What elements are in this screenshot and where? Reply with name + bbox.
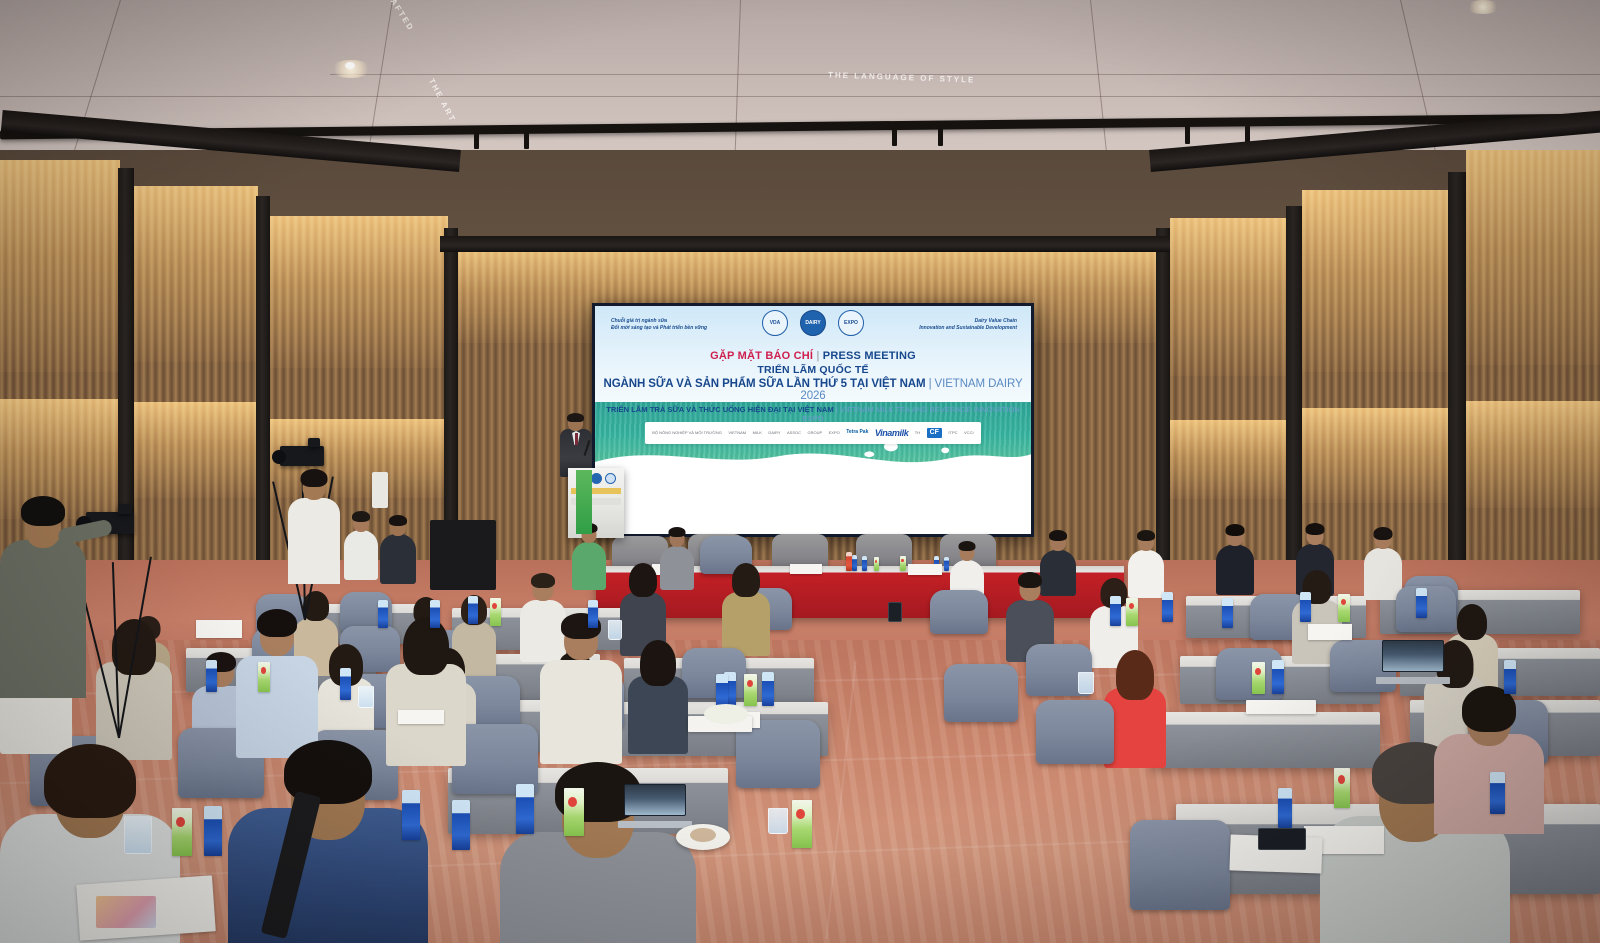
person-hair <box>732 563 760 597</box>
name-tent-card <box>398 710 444 724</box>
water-bottle <box>1278 788 1292 828</box>
track-spot-light <box>892 128 897 146</box>
water-bottle <box>762 672 774 706</box>
name-tent-card <box>196 620 242 638</box>
person-hair <box>640 640 676 686</box>
audience-chair <box>930 590 988 634</box>
person-hair <box>1457 604 1487 640</box>
name-tent-card <box>908 564 942 575</box>
drinking-glass <box>358 686 374 708</box>
main-title-vn: NGÀNH SỮA VÀ SẢN PHẨM SỮA LẦN THỨ 5 TẠI … <box>603 378 925 390</box>
person-hair <box>1018 572 1042 588</box>
milk-tea-expo-en: | VIETNAM MILK TEA AND BEVERAGE INNOVATI… <box>802 405 1019 423</box>
laptop-base <box>1376 677 1450 684</box>
sponsor-logo-bar: BỘ NÔNG NGHIỆP VÀ MÔI TRƯỜNG VIETNAM MIL… <box>645 422 981 444</box>
sponsor-logo-8: CF <box>927 428 942 438</box>
person-hair <box>44 744 136 818</box>
water-bottle <box>1222 598 1233 628</box>
product-bottle-red <box>846 552 852 571</box>
ceiling-text-language-of-style: THE LANGUAGE OF STYLE <box>828 70 976 84</box>
ceiling-text-art: THE ART <box>427 77 458 124</box>
milk-carton <box>258 662 270 692</box>
water-bottle <box>378 600 388 628</box>
person-hair <box>1137 530 1155 541</box>
tagline-right-line2: Innovation and Sustainable Development <box>919 325 1017 332</box>
milk-carton <box>1338 594 1350 622</box>
operator-body <box>0 540 86 698</box>
logo-vietnam-dairy-left-icon: VDA <box>762 310 788 336</box>
person-body <box>380 534 416 584</box>
wall-sign <box>372 472 388 508</box>
operator-hair <box>301 469 328 487</box>
person-body <box>628 676 688 754</box>
milk-carton <box>900 556 906 571</box>
audience-person <box>236 604 318 754</box>
person-hair <box>531 573 555 588</box>
screen-tagline-left: Chuỗi giá trị ngành sữa Đổi mới sáng tạo… <box>611 318 707 333</box>
person-body <box>1216 545 1254 595</box>
milk-carton <box>1252 662 1265 694</box>
logo-vietnam-dairy-center-icon: DAIRY <box>800 310 826 336</box>
person-hair <box>1049 530 1067 541</box>
sponsor-logo-5: GROUP <box>807 431 822 436</box>
water-bottle <box>206 660 217 692</box>
audience-chair <box>944 664 1018 722</box>
conference-room-photo: REFINED THE LANGUAGE OF STYLE CRAFTED TH… <box>0 0 1600 943</box>
water-bottle <box>716 674 728 708</box>
sponsor-logo-1: VIETNAM <box>728 431 746 436</box>
person-hair <box>403 617 449 675</box>
sponsor-logo-2: MILK <box>753 431 762 436</box>
laptop[interactable] <box>624 784 686 828</box>
main-title: NGÀNH SỮA VÀ SẢN PHẨM SỮA LẦN THỨ 5 TẠI … <box>595 378 1031 402</box>
av-equipment-panel <box>430 520 496 590</box>
screen-tagline-right: Dairy Value Chain Innovation and Sustain… <box>919 318 1017 333</box>
pastry-on-plate <box>690 828 716 842</box>
person-body <box>1434 734 1544 834</box>
back-wall-beam <box>440 236 1170 252</box>
water-bottle <box>402 790 420 840</box>
water-bottle <box>862 556 867 571</box>
water-bottle <box>204 806 222 856</box>
water-bottle <box>1490 772 1505 814</box>
water-bottle <box>468 596 478 624</box>
smartphone[interactable] <box>888 602 902 622</box>
sponsor-logo-4: ASSOC <box>787 431 801 436</box>
water-bottle <box>430 600 440 628</box>
person-hair <box>352 511 370 522</box>
water-bottle <box>1300 592 1311 622</box>
audience-person <box>1364 524 1402 596</box>
sponsor-logo-7: TH <box>915 431 920 436</box>
sponsor-tetra-pak: Tetra Pak <box>846 430 868 436</box>
operator-hair <box>21 496 65 526</box>
camera-viewfinder <box>308 438 320 447</box>
drinking-glass <box>124 816 152 854</box>
wall-slats-left-mid <box>134 186 258 586</box>
track-spot-light <box>524 131 529 149</box>
tagline-left-line2: Đổi mới sáng tạo và Phát triển bền vững <box>611 325 707 332</box>
water-bottle <box>944 557 949 571</box>
screen-content: Chuỗi giá trị ngành sữa Đổi mới sáng tạo… <box>595 306 1031 534</box>
wall-column-right-3 <box>1448 172 1466 592</box>
exhibition-subtitle: TRIỂN LÃM QUỐC TẾ <box>595 364 1031 376</box>
audience-chair <box>1036 700 1114 764</box>
press-meeting-en: PRESS MEETING <box>823 350 916 362</box>
name-tent-card <box>790 564 822 574</box>
person-hair <box>669 527 686 537</box>
audience-person <box>628 636 688 752</box>
video-camera <box>280 446 324 466</box>
milk-carton <box>1334 768 1350 808</box>
sponsor-logo-10: VCCI <box>964 431 974 436</box>
person-hair <box>1116 650 1154 700</box>
podium-logo-center-icon <box>591 473 602 484</box>
smartphone[interactable] <box>1258 828 1306 850</box>
person-hair <box>1374 527 1393 540</box>
audience-chair <box>682 648 746 698</box>
wall-column-left-2 <box>256 196 270 578</box>
sponsor-logo-3: DAIRY <box>768 431 780 436</box>
person-hair <box>1226 524 1245 536</box>
person-hair <box>389 515 407 526</box>
laptop-screen <box>1382 640 1444 672</box>
speaker-at-podium <box>560 414 592 476</box>
water-bottle <box>852 555 857 571</box>
water-bottle <box>1416 588 1427 618</box>
person-body <box>344 530 378 580</box>
person-hair <box>1306 523 1325 535</box>
camera-viewfinder <box>118 504 132 514</box>
audience-chair <box>1130 820 1230 910</box>
drinking-glass <box>608 620 622 640</box>
sponsor-ministry: BỘ NÔNG NGHIỆP VÀ MÔI TRƯỜNG <box>652 431 722 436</box>
drinking-glass <box>1078 672 1094 694</box>
track-spot-light <box>938 128 943 146</box>
water-bottle <box>340 668 351 700</box>
ceiling-text-crafted: CRAFTED <box>380 0 415 33</box>
water-bottle <box>1162 592 1173 622</box>
audience-person <box>722 560 770 654</box>
milk-carton <box>1126 598 1138 626</box>
camera-lens-icon <box>272 450 286 464</box>
person-body <box>722 592 770 656</box>
green-rollup-banner <box>576 470 592 534</box>
wall-slats-right-far <box>1466 150 1600 598</box>
laptop[interactable] <box>1382 640 1444 684</box>
water-bottle <box>588 600 598 628</box>
camera-operator-right <box>288 468 340 580</box>
milk-tea-expo-line: TRIỂN LÃM TRÀ SỮA VÀ THỨC UỐNG HIỆN ĐẠI … <box>595 405 1031 423</box>
track-spot-light <box>1185 126 1190 144</box>
milk-carton <box>564 788 584 836</box>
ceiling-downlight <box>345 62 355 69</box>
milk-carton <box>172 808 192 856</box>
foreground-person-navy-polo <box>228 736 428 943</box>
person-body <box>572 542 606 590</box>
camera-tripod-left <box>80 548 160 738</box>
wall-column-right-1 <box>1156 228 1170 578</box>
laptop-base <box>618 821 692 828</box>
saucer-plate <box>704 704 748 724</box>
milk-carton <box>874 557 879 571</box>
water-bottle <box>452 800 470 850</box>
folder-cover-art <box>96 896 156 928</box>
person-body <box>540 660 622 764</box>
sponsor-logo-6: EXPO <box>829 431 840 436</box>
audience-person <box>344 508 378 578</box>
sponsor-logo-9: ITPC <box>948 431 957 436</box>
milk-carton <box>744 674 757 706</box>
milk-carton <box>792 800 812 848</box>
logo-vietnam-dairy-right-icon: EXPO <box>838 310 864 336</box>
stage-presentation-screen: Chuỗi giá trị ngành sữa Đổi mới sáng tạo… <box>592 303 1034 537</box>
speaker-tie <box>575 433 578 445</box>
person-body <box>1364 548 1402 600</box>
milk-carton <box>490 598 501 626</box>
audience-person <box>1216 522 1254 592</box>
press-meeting-vn: GẶP MẶT BÁO CHÍ <box>710 350 813 362</box>
podium-logo-right-icon <box>605 473 616 484</box>
person-hair <box>629 563 657 597</box>
water-bottle <box>1504 660 1516 694</box>
paper-sheet[interactable] <box>1246 700 1316 714</box>
milk-splash-graphic <box>595 429 1031 534</box>
water-bottle <box>516 784 534 834</box>
ceiling-downlight <box>1466 0 1500 14</box>
laptop-screen <box>624 784 686 816</box>
speaker-hair <box>567 413 584 422</box>
sponsor-vinamilk: Vinamilk <box>875 428 908 438</box>
press-meeting-heading: GẶP MẶT BÁO CHÍ | PRESS MEETING <box>595 350 1031 362</box>
audience-person-right-mid <box>1434 684 1544 832</box>
name-tent-card <box>1308 624 1352 640</box>
drinking-glass <box>768 808 788 834</box>
operator-body <box>288 498 340 584</box>
water-bottle <box>1272 660 1284 694</box>
track-spot-light <box>474 131 479 149</box>
water-bottle <box>1110 596 1121 626</box>
audience-person <box>380 512 416 582</box>
screen-logo-row: VDA DAIRY EXPO <box>762 310 864 336</box>
press-meeting-separator: | <box>816 350 819 362</box>
person-hair <box>959 541 976 551</box>
milk-tea-expo-vn: TRIỂN LÃM TRÀ SỮA VÀ THỨC UỐNG HIỆN ĐẠI … <box>606 405 833 414</box>
tagline-right-line1: Dairy Value Chain <box>919 318 1017 325</box>
